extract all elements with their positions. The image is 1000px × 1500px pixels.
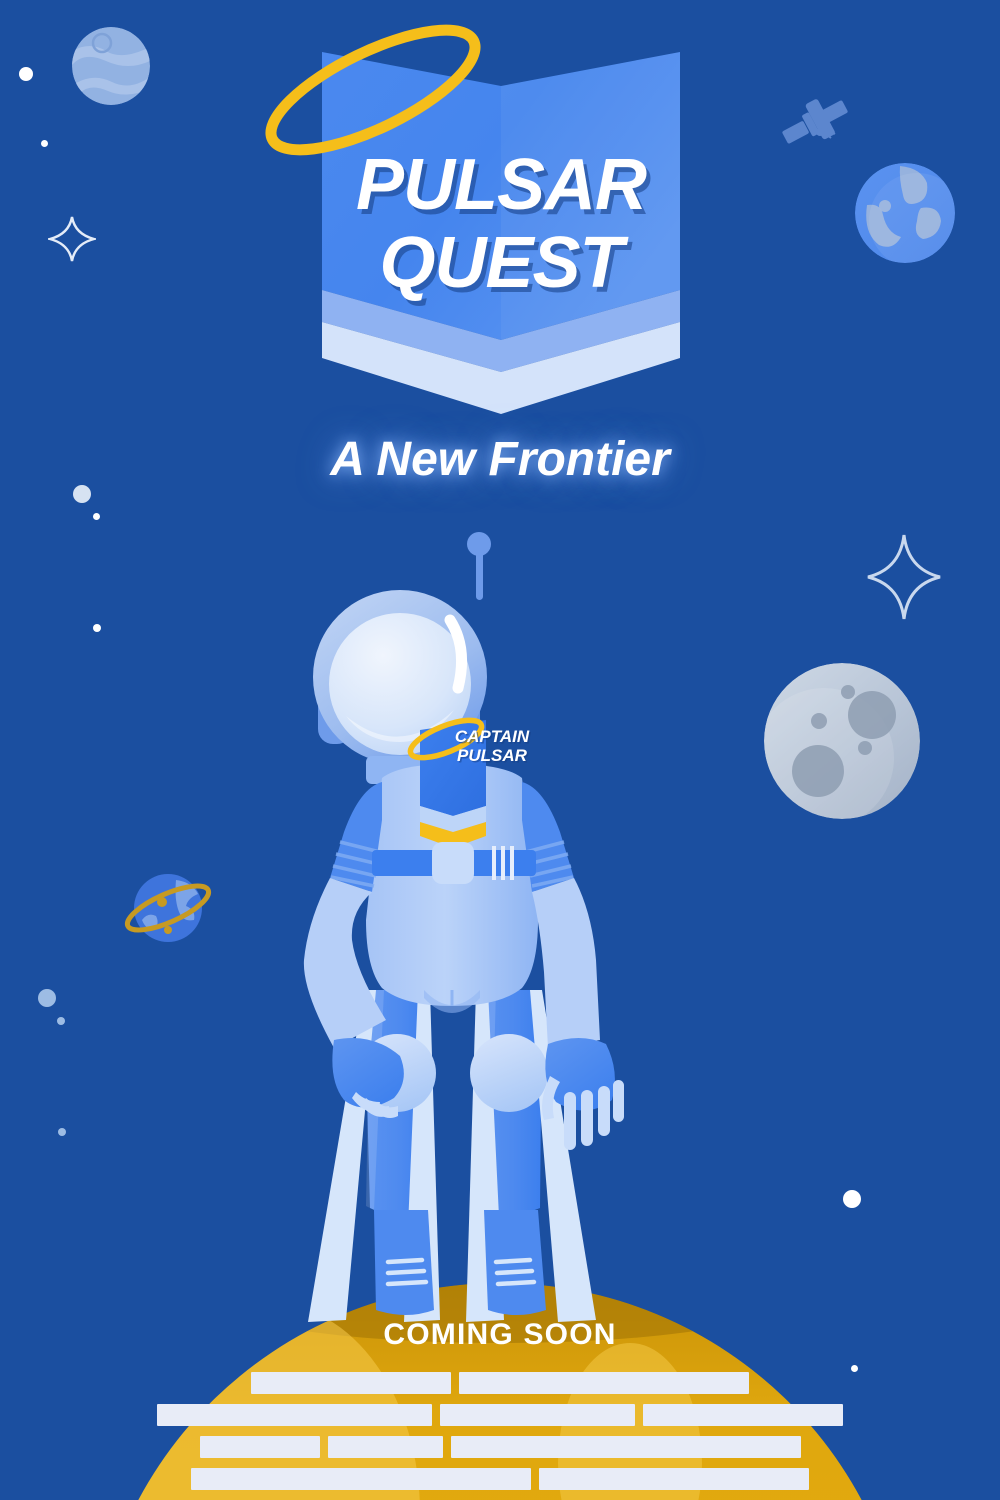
placeholder-row: [0, 1468, 1000, 1490]
planet-earth-icon: [855, 163, 955, 263]
astronaut-character: [300, 520, 700, 1330]
star-dot-icon: [93, 513, 100, 520]
star-dot-icon: [58, 1128, 66, 1136]
placeholder-bar: [451, 1436, 801, 1458]
star-dot-icon: [73, 485, 91, 503]
logo-title: PULSAR QUEST: [318, 146, 684, 302]
placeholder-text-block: [0, 1372, 1000, 1500]
placeholder-bar: [191, 1468, 531, 1490]
placeholder-row: [0, 1436, 1000, 1458]
chest-badge-label: CAPTAIN PULSAR: [432, 727, 552, 765]
logo-badge: PULSAR QUEST: [318, 40, 684, 420]
placeholder-bar: [440, 1404, 635, 1426]
placeholder-bar: [251, 1372, 451, 1394]
moon-grey-icon: [764, 663, 920, 819]
planet-ringed-icon: [118, 858, 218, 958]
placeholder-bar: [328, 1436, 443, 1458]
satellite-icon: [778, 88, 852, 156]
placeholder-bar: [157, 1404, 432, 1426]
sparkle-left-icon: [48, 215, 96, 263]
star-dot-icon: [41, 140, 48, 147]
star-dot-icon: [57, 1017, 65, 1025]
planet-striped-icon: [72, 27, 150, 105]
star-dot-icon: [851, 1365, 858, 1372]
placeholder-row: [0, 1372, 1000, 1394]
tagline: A New Frontier: [0, 432, 1000, 487]
sparkle-right-icon: [866, 533, 942, 621]
placeholder-bar: [539, 1468, 809, 1490]
star-dot-icon: [843, 1190, 861, 1208]
logo-title-line2: QUEST: [318, 224, 684, 302]
poster-canvas: CAPTAIN PULSAR PULSA: [0, 0, 1000, 1500]
star-dot-icon: [93, 624, 101, 632]
logo-title-line1: PULSAR: [356, 145, 646, 225]
star-dot-icon: [19, 67, 33, 81]
placeholder-bar: [459, 1372, 749, 1394]
placeholder-bar: [643, 1404, 843, 1426]
chest-badge-line2: PULSAR: [457, 746, 527, 765]
chest-badge-line1: CAPTAIN: [455, 727, 529, 746]
coming-soon-label: COMING SOON: [0, 1318, 1000, 1352]
placeholder-bar: [200, 1436, 320, 1458]
placeholder-row: [0, 1404, 1000, 1426]
star-dot-icon: [38, 989, 56, 1007]
